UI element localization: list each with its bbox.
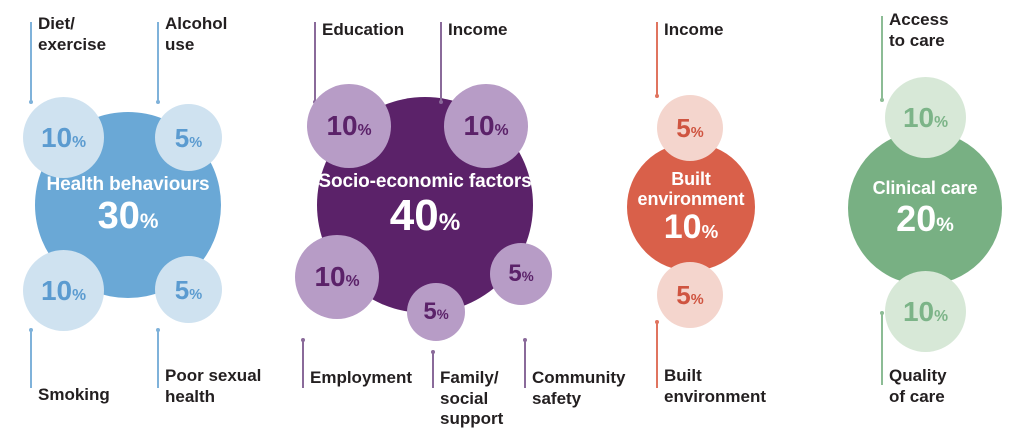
bubble-title: Health behaviours xyxy=(46,175,209,196)
percent-symbol: % xyxy=(72,134,86,151)
connector-quality-of-care xyxy=(881,313,883,385)
satellite-value-number: 5 xyxy=(508,260,521,287)
bubble-built-environment-factor[interactable]: 5% xyxy=(657,262,723,328)
satellite-value-number: 10 xyxy=(903,296,934,327)
label-income-built: Income xyxy=(664,20,724,41)
label-income: Income xyxy=(448,20,508,41)
bubble-family-social-support[interactable]: 5% xyxy=(407,283,465,341)
bubble-employment[interactable]: 10% xyxy=(295,235,379,319)
bubble-income-built[interactable]: 5% xyxy=(657,95,723,161)
satellite-value: 5% xyxy=(175,125,202,151)
label-community-safety: Community safety xyxy=(532,368,626,409)
connector-dot xyxy=(29,100,33,104)
connector-dot xyxy=(439,100,443,104)
satellite-value-number: 10 xyxy=(41,275,72,306)
connector-poor-sexual-health xyxy=(157,330,159,388)
connector-dot xyxy=(29,328,33,332)
percent-symbol: % xyxy=(437,307,449,322)
satellite-value: 10% xyxy=(463,112,508,140)
label-built-environment: Built environment xyxy=(664,366,766,407)
connector-smoking xyxy=(30,330,32,388)
bubble-value-number: 10 xyxy=(664,208,702,246)
bubble-income[interactable]: 10% xyxy=(444,84,528,168)
connector-built-environment xyxy=(656,322,658,388)
connector-income-built xyxy=(656,22,658,96)
satellite-value-number: 5 xyxy=(175,275,189,305)
satellite-value-number: 10 xyxy=(41,122,72,153)
satellite-value: 5% xyxy=(175,277,202,303)
label-access-to-care: Access to care xyxy=(889,10,949,51)
satellite-value-number: 10 xyxy=(314,261,345,292)
connector-access-to-care xyxy=(881,16,883,100)
connector-dot xyxy=(431,350,435,354)
satellite-value: 5% xyxy=(423,300,448,324)
label-family-social-support: Family/ social support xyxy=(440,368,503,430)
satellite-value-number: 5 xyxy=(676,280,690,310)
satellite-value: 10% xyxy=(903,104,948,132)
satellite-value: 10% xyxy=(41,277,86,305)
connector-community-safety xyxy=(524,340,526,388)
connector-employment xyxy=(302,340,304,388)
connector-dot xyxy=(523,338,527,342)
label-alcohol-use: Alcohol use xyxy=(165,14,227,55)
percent-symbol: % xyxy=(702,221,719,242)
bubble-value: 40% xyxy=(390,194,460,238)
satellite-value: 10% xyxy=(41,124,86,152)
bubble-value-number: 20 xyxy=(896,198,936,239)
satellite-value: 10% xyxy=(314,263,359,291)
percent-symbol: % xyxy=(358,122,372,139)
bubble-value-number: 30 xyxy=(98,195,140,237)
bubble-title: Built environment xyxy=(627,170,755,210)
bubble-access-to-care[interactable]: 10% xyxy=(885,77,966,158)
satellite-value: 10% xyxy=(903,298,948,326)
percent-symbol: % xyxy=(522,269,534,284)
connector-dot xyxy=(655,94,659,98)
percent-symbol: % xyxy=(439,209,461,236)
connector-dot xyxy=(156,100,160,104)
label-smoking: Smoking xyxy=(38,385,110,406)
bubble-title: Clinical care xyxy=(873,179,978,199)
bubble-poor-sexual-health[interactable]: 5% xyxy=(155,256,222,323)
percent-symbol: % xyxy=(934,114,948,131)
percent-symbol: % xyxy=(346,273,360,290)
connector-diet-exercise xyxy=(30,22,32,102)
percent-symbol: % xyxy=(691,125,704,141)
satellite-value-number: 5 xyxy=(175,123,189,153)
satellite-value-number: 10 xyxy=(326,110,357,141)
bubble-built-environment[interactable]: Built environment 10% xyxy=(627,143,755,271)
satellite-value-number: 10 xyxy=(463,110,494,141)
connector-family-social-support xyxy=(432,352,434,388)
label-diet-exercise: Diet/ exercise xyxy=(38,14,106,55)
percent-symbol: % xyxy=(936,214,954,236)
satellite-value-number: 5 xyxy=(423,298,436,325)
bubble-education[interactable]: 10% xyxy=(307,84,391,168)
bubble-title: Socio-economic factors xyxy=(318,172,531,193)
label-employment: Employment xyxy=(310,368,412,389)
bubble-value-number: 40 xyxy=(390,191,439,240)
bubble-diet-exercise[interactable]: 10% xyxy=(23,97,104,178)
connector-dot xyxy=(156,328,160,332)
bubble-alcohol-use[interactable]: 5% xyxy=(155,104,222,171)
connector-education xyxy=(314,22,316,102)
connector-dot xyxy=(655,320,659,324)
bubble-quality-of-care[interactable]: 10% xyxy=(885,271,966,352)
satellite-value-number: 10 xyxy=(903,102,934,133)
bubble-smoking[interactable]: 10% xyxy=(23,250,104,331)
percent-symbol: % xyxy=(495,122,509,139)
label-education: Education xyxy=(322,20,404,41)
connector-dot xyxy=(880,98,884,102)
satellite-value: 5% xyxy=(508,262,533,286)
bubble-value: 10% xyxy=(664,210,718,244)
infographic-canvas: Health behaviours 30% 10% 5% 10% 5% xyxy=(0,0,1024,442)
percent-symbol: % xyxy=(189,135,202,151)
percent-symbol: % xyxy=(72,287,86,304)
label-quality-of-care: Quality of care xyxy=(889,366,947,407)
bubble-value: 30% xyxy=(98,197,159,235)
percent-symbol: % xyxy=(934,308,948,325)
connector-income xyxy=(440,22,442,102)
connector-dot xyxy=(301,338,305,342)
satellite-value: 5% xyxy=(676,115,703,141)
bubble-value: 20% xyxy=(896,201,954,237)
connector-alcohol-use xyxy=(157,22,159,102)
percent-symbol: % xyxy=(691,292,704,308)
label-poor-sexual-health: Poor sexual health xyxy=(165,366,261,407)
satellite-value-number: 5 xyxy=(676,113,690,143)
bubble-community-safety[interactable]: 5% xyxy=(490,243,552,305)
satellite-value: 5% xyxy=(676,282,703,308)
connector-dot xyxy=(880,311,884,315)
percent-symbol: % xyxy=(140,210,159,233)
percent-symbol: % xyxy=(189,287,202,303)
satellite-value: 10% xyxy=(326,112,371,140)
